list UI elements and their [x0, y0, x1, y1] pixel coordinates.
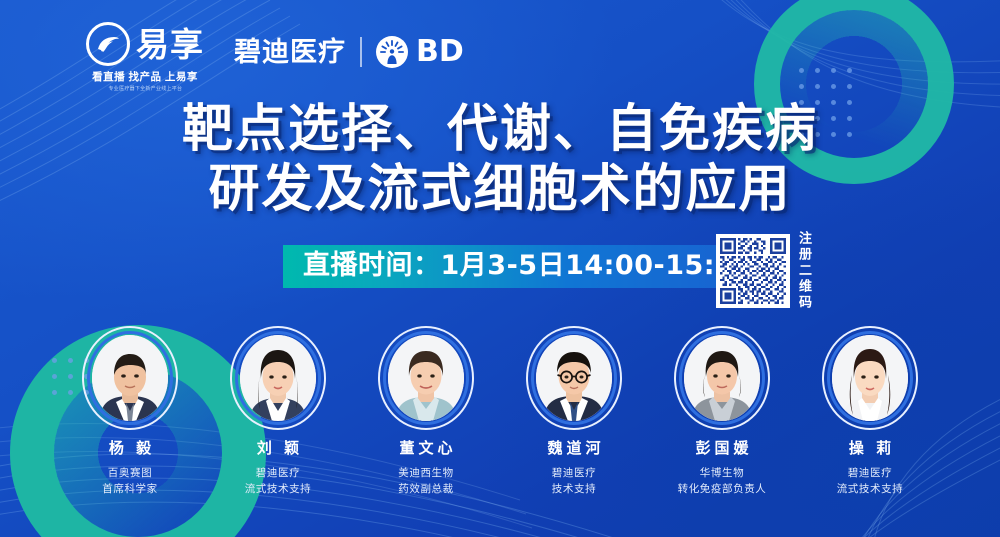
avatar-glyph [240, 335, 316, 421]
speaker-name: 彭国媛 [691, 441, 752, 456]
avatar-photo-icon [684, 335, 760, 421]
avatar-glyph [388, 335, 464, 421]
bd-mark: BD [376, 36, 464, 68]
speaker-name: 杨 毅 [105, 441, 155, 456]
speaker-role: 技术支持 [552, 481, 596, 497]
speaker-name: 董文心 [395, 441, 456, 456]
yixiang-subtagline: 专业医疗器下全新产业线上平台 [108, 85, 182, 92]
avatar-frame [82, 326, 178, 430]
speaker-role: 流式技术支持 [837, 481, 904, 497]
speaker-name: 魏道河 [543, 441, 604, 456]
title-line-2: 研发及流式细胞术的应用 [0, 160, 1000, 220]
speaker-detail: 美迪西生物 药效副总裁 [398, 465, 454, 498]
avatar-glyph [832, 335, 908, 421]
speaker-card: 刘 颖 碧迪医疗 流式技术支持 [214, 326, 342, 498]
speaker-org: 碧迪医疗 [552, 465, 596, 481]
bd-chinese-name: 碧迪医疗 [234, 39, 346, 66]
live-time-text: 直播时间：1月3-5日14:00-15:00 [303, 251, 754, 281]
avatar-glyph [92, 335, 168, 421]
speaker-org: 百奥赛图 [102, 465, 158, 481]
avatar-photo-icon [832, 335, 908, 421]
avatar-frame [230, 326, 326, 430]
speaker-detail: 碧迪医疗 流式技术支持 [837, 465, 904, 498]
speaker-card: 董文心 美迪西生物 药效副总裁 [362, 326, 490, 498]
avatar-frame [526, 326, 622, 430]
speaker-org: 碧迪医疗 [245, 465, 312, 481]
bd-logo: 碧迪医疗 [234, 36, 464, 78]
speaker-role: 转化免疫部负责人 [678, 481, 767, 497]
speaker-list: 杨 毅 百奥赛图 首席科学家 [0, 326, 1000, 498]
yixiang-logo-top: 易享 [86, 22, 204, 66]
yixiang-brand-text: 易享 [136, 28, 204, 61]
avatar-photo-icon [240, 335, 316, 421]
speaker-detail: 华博生物 转化免疫部负责人 [678, 465, 767, 498]
header-logos: 易享 看直播 找产品 上易享 专业医疗器下全新产业线上平台 碧迪医疗 [86, 22, 464, 92]
speaker-role: 首席科学家 [102, 481, 158, 497]
bd-letters: BD [416, 37, 464, 67]
bd-sunburst-glyph [379, 39, 405, 65]
qr-code-icon[interactable] [716, 234, 790, 308]
yixiang-tagline: 看直播 找产品 上易享 [92, 69, 198, 84]
qr-label: 注册二维码 [798, 231, 811, 311]
avatar-frame [378, 326, 474, 430]
avatar-glyph [536, 335, 612, 421]
speaker-card: 操 莉 碧迪医疗 流式技术支持 [806, 326, 934, 498]
live-time-banner: 直播时间：1月3-5日14:00-15:00 [283, 245, 774, 288]
bd-sunburst-icon [376, 36, 408, 68]
speaker-card: 杨 毅 百奥赛图 首席科学家 [66, 326, 194, 498]
speaker-role: 药效副总裁 [398, 481, 454, 497]
qr-code-glyph [720, 238, 786, 304]
speaker-org: 美迪西生物 [398, 465, 454, 481]
speaker-role: 流式技术支持 [245, 481, 312, 497]
avatar-photo-icon [536, 335, 612, 421]
yixiang-logo: 易享 看直播 找产品 上易享 专业医疗器下全新产业线上平台 [86, 22, 204, 92]
registration-qr-block: 注册二维码 [716, 231, 811, 311]
speaker-name: 刘 颖 [253, 441, 303, 456]
speaker-org: 华博生物 [678, 465, 767, 481]
avatar-photo-icon [92, 335, 168, 421]
speaker-card: 魏道河 碧迪医疗 技术支持 [510, 326, 638, 498]
wave-circle-icon [86, 22, 130, 66]
speaker-org: 碧迪医疗 [837, 465, 904, 481]
avatar-glyph [684, 335, 760, 421]
avatar-frame [674, 326, 770, 430]
avatar-photo-icon [388, 335, 464, 421]
wave-glyph [95, 34, 121, 54]
speaker-detail: 百奥赛图 首席科学家 [102, 465, 158, 498]
avatar-frame [822, 326, 918, 430]
webinar-poster: 易享 看直播 找产品 上易享 专业医疗器下全新产业线上平台 碧迪医疗 [0, 0, 1000, 537]
speaker-card: 彭国媛 华博生物 转化免疫部负责人 [658, 326, 786, 498]
title-line-1: 靶点选择、代谢、自免疾病 [0, 100, 1000, 160]
speaker-detail: 碧迪医疗 流式技术支持 [245, 465, 312, 498]
speaker-name: 操 莉 [845, 441, 895, 456]
poster-title: 靶点选择、代谢、自免疾病 研发及流式细胞术的应用 [0, 100, 1000, 220]
speaker-detail: 碧迪医疗 技术支持 [552, 465, 596, 498]
logo-divider [360, 37, 362, 67]
